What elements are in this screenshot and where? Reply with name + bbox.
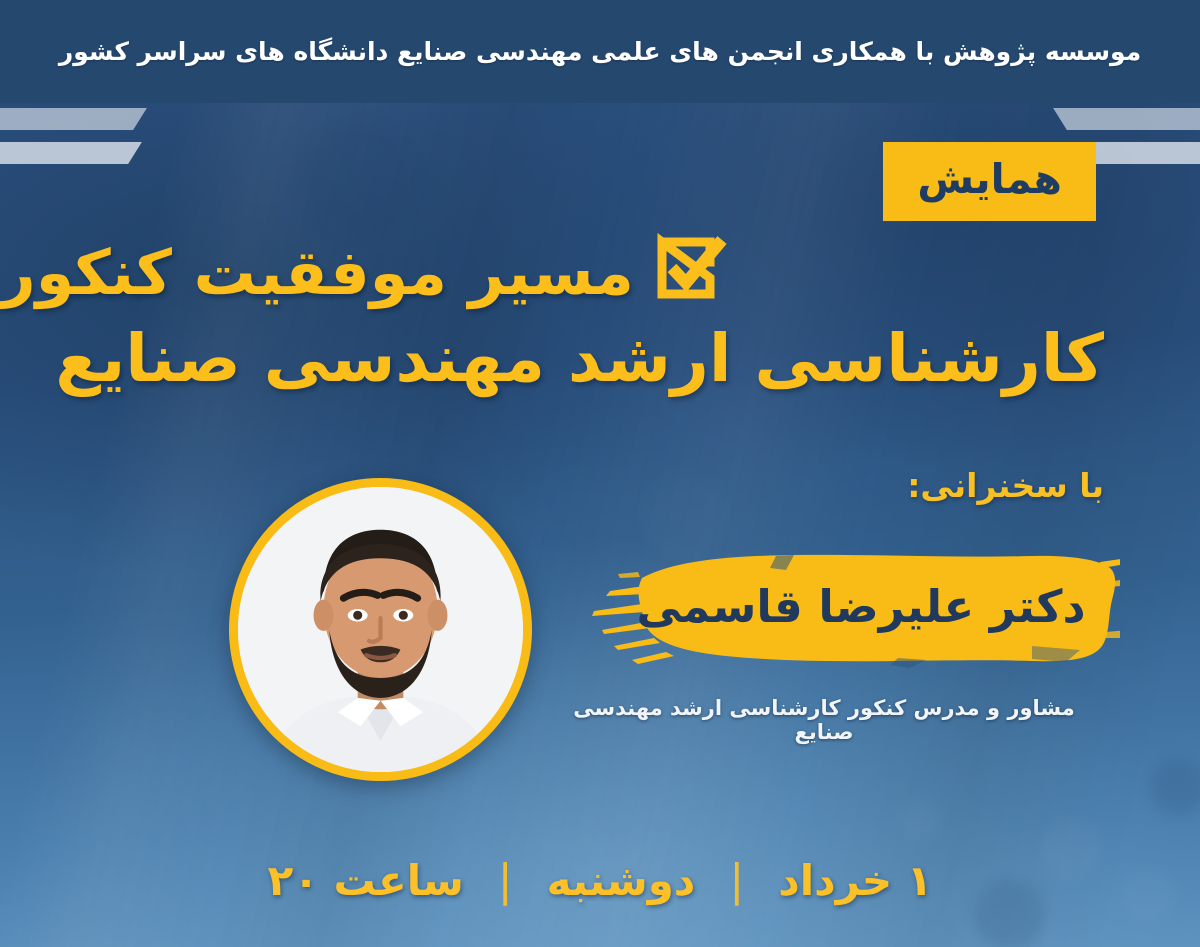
- separator-1: |: [725, 855, 748, 906]
- speaker-portrait: [229, 478, 532, 781]
- title-line-1-row: مسیر موفقیت کنکور: [0, 232, 1104, 315]
- speaker-name: دکتر علیرضا قاسمی: [580, 542, 1120, 677]
- separator-2: |: [494, 855, 517, 906]
- event-datetime-row: ۱ خرداد | دوشنبه | ساعت ۲۰: [0, 855, 1200, 906]
- header-note: موسسه پژوهش با همکاری انجمن های علمی مهن…: [0, 0, 1200, 103]
- speaker-role: مشاور و مدرس کنکور کارشناسی ارشد مهندسی …: [544, 696, 1104, 744]
- speaker-name-banner: دکتر علیرضا قاسمی: [580, 542, 1120, 677]
- event-date: ۱ خرداد: [778, 856, 932, 905]
- checkbox-checked-icon: [654, 232, 728, 315]
- speaker-label: با سخنرانی:: [907, 466, 1104, 505]
- event-type-badge: همایش: [883, 142, 1096, 221]
- portrait-illustration: [238, 487, 523, 772]
- poster-title: مسیر موفقیت کنکور کارشناسی ارشد مهندسی ص…: [0, 232, 1200, 394]
- title-line-2: کارشناسی ارشد مهندسی صنایع: [0, 323, 1104, 394]
- event-time: ساعت ۲۰: [268, 856, 464, 905]
- event-weekday: دوشنبه: [547, 856, 696, 905]
- event-poster: موسسه پژوهش با همکاری انجمن های علمی مهن…: [0, 0, 1200, 947]
- title-line-1: مسیر موفقیت کنکور: [0, 240, 634, 307]
